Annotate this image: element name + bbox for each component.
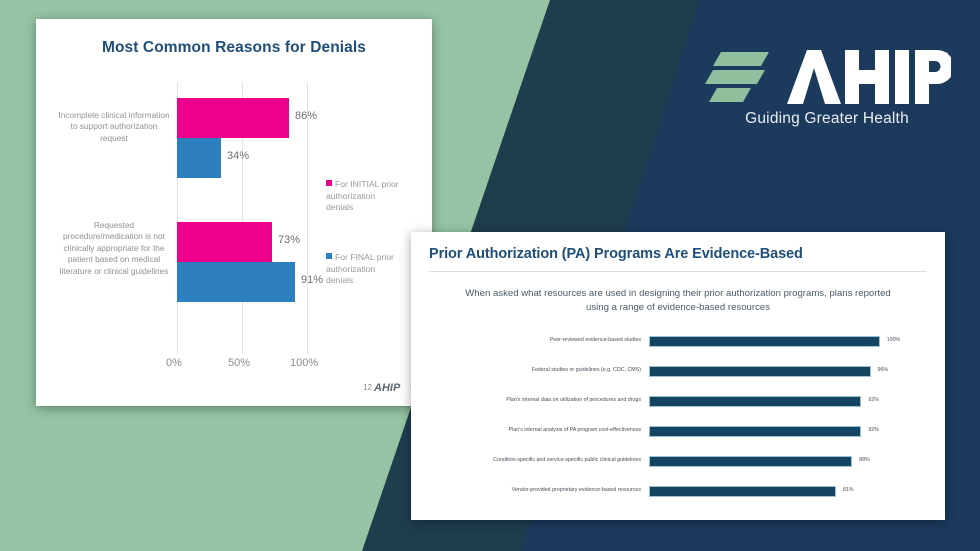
slide2-subtitle: When asked what resources are used in de… xyxy=(455,287,901,315)
gridline-100 xyxy=(307,82,308,354)
slide1-title: Most Common Reasons for Denials xyxy=(36,39,432,57)
bar-final-not-clinically-appropriate xyxy=(177,262,295,302)
table-row: Plan's internal analysis of PA program c… xyxy=(429,418,927,448)
bar-value-condition-specific-guidelines: 88% xyxy=(859,457,870,463)
ahip-tagline: Guiding Greater Health xyxy=(703,110,951,128)
bar-value-initial-incomplete-clinical-info: 86% xyxy=(295,110,317,122)
slide-card-evidence-based[interactable]: Prior Authorization (PA) Programs Are Ev… xyxy=(411,232,945,520)
table-row: Vendor-provided proprietary evidence-bas… xyxy=(429,478,927,508)
table-row: Federal studies or guidelines (e.g. CDC,… xyxy=(429,358,927,388)
slide2-title-divider xyxy=(429,271,927,272)
bar-peer-reviewed xyxy=(649,336,880,347)
svg-text:™: ™ xyxy=(941,52,948,59)
ahip-logo: ™ Guiding Greater Health xyxy=(703,44,951,144)
bar-track-peer-reviewed: 100% xyxy=(649,336,927,347)
bar-track-internal-analysis-cost: 92% xyxy=(649,426,927,437)
bar-label-peer-reviewed: Peer-reviewed evidence-based studies xyxy=(429,336,641,344)
legend-item-initial[interactable]: For INITIAL prior authorization denials xyxy=(326,179,400,214)
bar-initial-not-clinically-appropriate xyxy=(177,222,272,262)
bar-internal-data-utilization xyxy=(649,396,861,407)
bar-internal-analysis-cost xyxy=(649,426,861,437)
slide1-page-number: 12 xyxy=(363,383,372,392)
bar-value-final-incomplete-clinical-info: 34% xyxy=(227,150,249,162)
bar-label-condition-specific-guidelines: Condition-specific and service-specific … xyxy=(429,456,641,464)
bar-final-incomplete-clinical-info xyxy=(177,138,221,178)
bar-value-federal-studies: 96% xyxy=(878,367,889,373)
bar-label-internal-analysis-cost: Plan's internal analysis of PA program c… xyxy=(429,426,641,434)
slide2-bar-list: Peer-reviewed evidence-based studies 100… xyxy=(429,328,927,508)
bar-value-peer-reviewed: 100% xyxy=(887,337,901,343)
legend-swatch-final-icon xyxy=(326,253,332,259)
xtick-0: 0% xyxy=(166,357,182,369)
bar-label-internal-data-utilization: Plan's internal data on utilization of p… xyxy=(429,396,641,404)
legend-item-final[interactable]: For FINAL prior authorization denials xyxy=(326,252,400,287)
legend-label-initial: For INITIAL prior authorization denials xyxy=(326,179,399,212)
bar-label-federal-studies: Federal studies or guidelines (e.g. CDC,… xyxy=(429,366,641,374)
bar-value-final-not-clinically-appropriate: 91% xyxy=(301,274,323,286)
bar-track-condition-specific-guidelines: 88% xyxy=(649,456,927,467)
bar-track-internal-data-utilization: 92% xyxy=(649,396,927,407)
slide-composite: Most Common Reasons for Denials Incomple… xyxy=(0,0,980,551)
bar-value-initial-not-clinically-appropriate: 73% xyxy=(278,234,300,246)
category-label-incomplete-clinical-info: Incomplete clinical information to suppo… xyxy=(58,110,170,144)
svg-text:AHIP: AHIP xyxy=(373,382,401,394)
bar-vendor-provided xyxy=(649,486,836,497)
legend-label-final: For FINAL prior authorization denials xyxy=(326,252,394,285)
bar-value-vendor-provided: 81% xyxy=(843,487,854,493)
bar-value-internal-analysis-cost: 92% xyxy=(868,427,879,433)
table-row: Peer-reviewed evidence-based studies 100… xyxy=(429,328,927,358)
xtick-50: 50% xyxy=(228,357,250,369)
slide-card-denials[interactable]: Most Common Reasons for Denials Incomple… xyxy=(36,19,432,406)
bar-track-vendor-provided: 81% xyxy=(649,486,927,497)
slide2-title: Prior Authorization (PA) Programs Are Ev… xyxy=(429,246,803,262)
legend-swatch-initial-icon xyxy=(326,180,332,186)
category-label-not-clinically-appropriate: Requested procedure/medication is not cl… xyxy=(58,220,170,277)
ahip-wordmark-icon: ™ xyxy=(703,44,951,110)
xtick-100: 100% xyxy=(290,357,318,369)
bar-track-federal-studies: 96% xyxy=(649,366,927,377)
bar-value-internal-data-utilization: 92% xyxy=(868,397,879,403)
bar-federal-studies xyxy=(649,366,871,377)
bar-condition-specific-guidelines xyxy=(649,456,852,467)
bar-label-vendor-provided: Vendor-provided proprietary evidence-bas… xyxy=(429,486,641,494)
bar-initial-incomplete-clinical-info xyxy=(177,98,289,138)
table-row: Plan's internal data on utilization of p… xyxy=(429,388,927,418)
slide1-plot-area: Incomplete clinical information to suppo… xyxy=(54,74,414,374)
table-row: Condition-specific and service-specific … xyxy=(429,448,927,478)
